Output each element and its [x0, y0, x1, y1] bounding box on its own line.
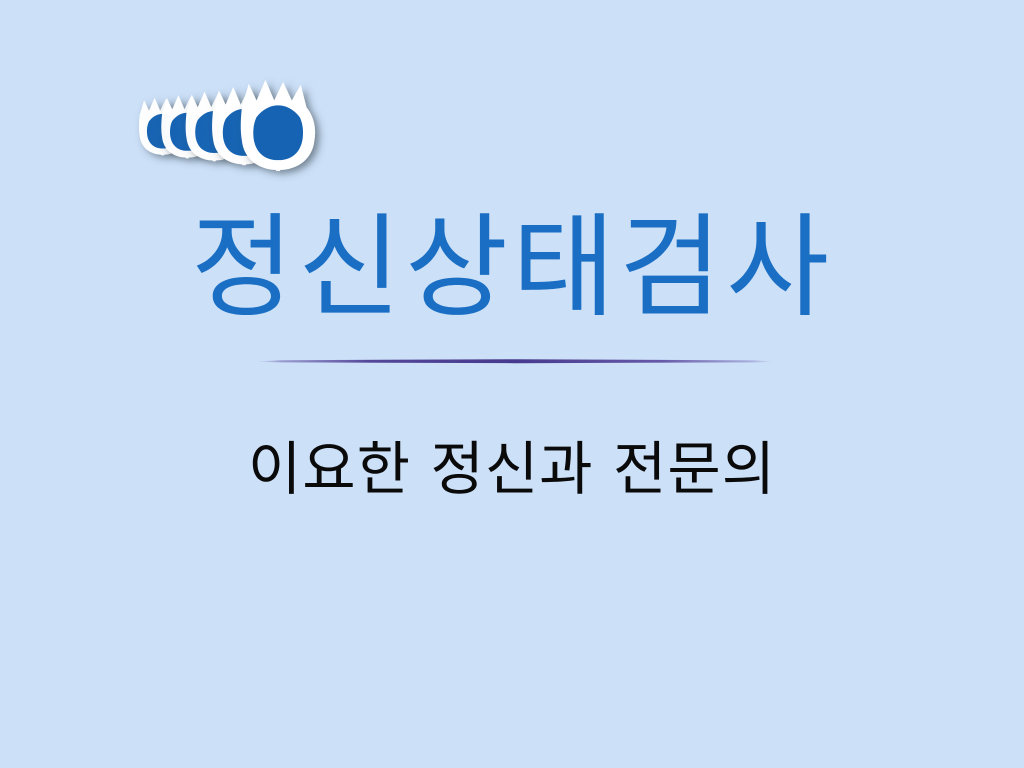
slide-title: 정신상태검사	[0, 196, 1024, 341]
divider	[255, 352, 775, 370]
slide-title-text: 정신상태검사	[191, 203, 833, 333]
crown-bulb-cluster-logo	[128, 72, 328, 197]
slide-subtitle: 이요한 정신과 전문의	[0, 433, 1024, 505]
title-slide: 정신상태검사 이요한 정신과 전문의	[0, 0, 1024, 768]
